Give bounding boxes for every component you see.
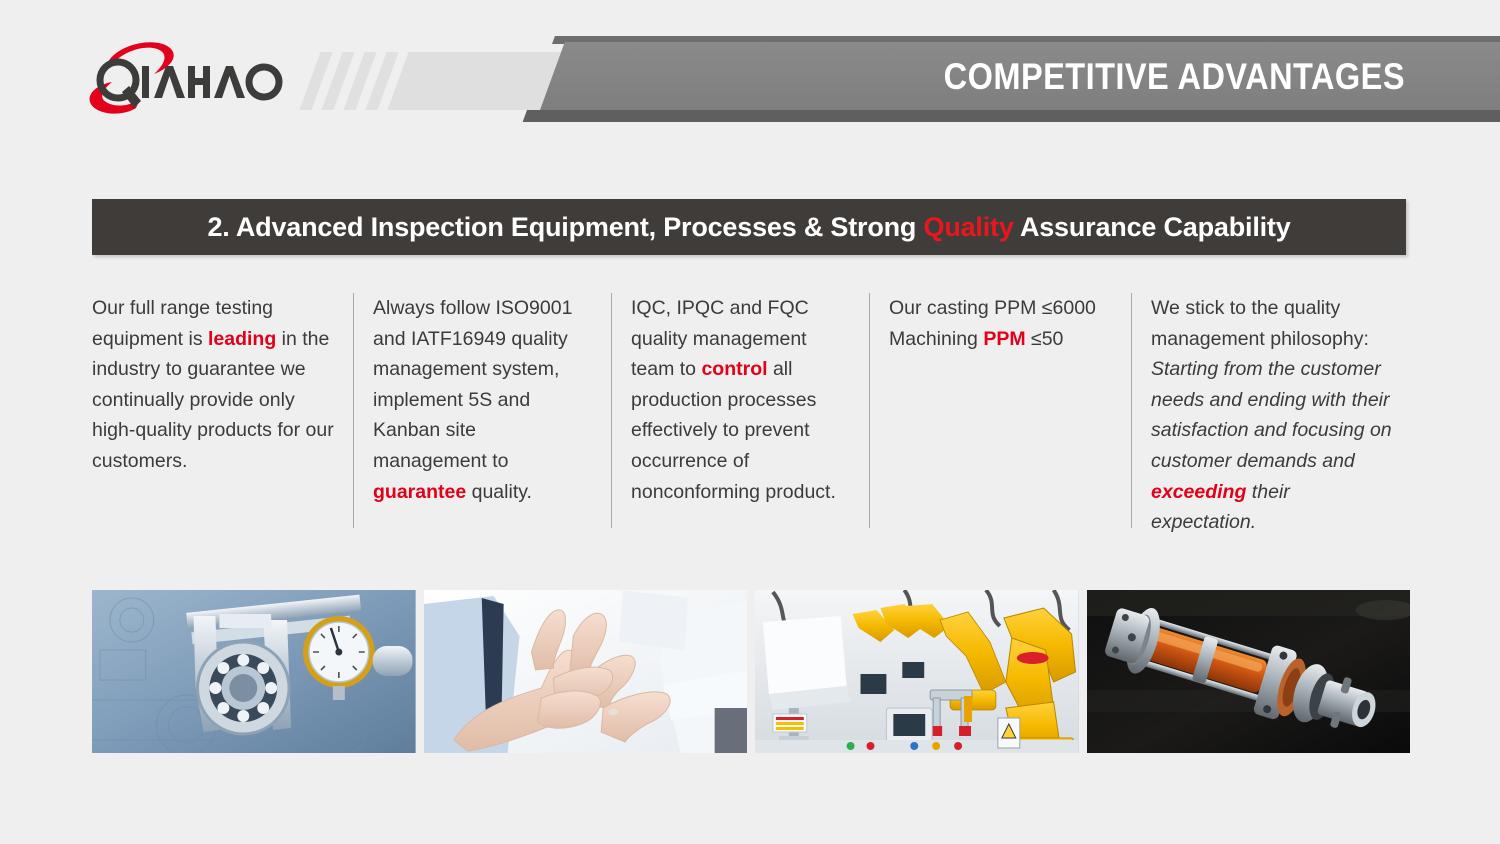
section-title-prefix: 2. Advanced Inspection Equipment, Proces…	[207, 212, 923, 242]
banner-bevel-bottom	[523, 110, 1500, 122]
q-orbit-logo-icon	[88, 38, 288, 120]
qianhao-logo	[88, 38, 288, 120]
banner-title: COMPETITIVE ADVANTAGES	[697, 49, 1405, 104]
feature-column: IQC, IPQC and FQC quality management tea…	[611, 293, 869, 528]
section-title-suffix: Assurance Capability	[1014, 212, 1291, 242]
photo-caliper-bearing	[92, 590, 416, 753]
photo-team-thumbs-up	[424, 590, 748, 753]
photo-robot-arms	[755, 590, 1079, 753]
slide-canvas: COMPETITIVE ADVANTAGES 2. Advanced Inspe…	[0, 0, 1500, 844]
feature-column: Always follow ISO9001 and IATF16949 qual…	[353, 293, 611, 528]
section-title-bar: 2. Advanced Inspection Equipment, Proces…	[92, 199, 1406, 255]
column-body: IQC, IPQC and FQC quality management tea…	[631, 293, 851, 507]
feature-columns: Our full range testing equipment is lead…	[92, 293, 1412, 528]
feature-column: We stick to the quality management philo…	[1131, 293, 1412, 528]
section-title-highlight: Quality	[924, 212, 1014, 242]
section-title-text: 2. Advanced Inspection Equipment, Proces…	[207, 212, 1290, 243]
feature-column: Our casting PPM ≤6000Machining PPM ≤50	[869, 293, 1131, 528]
column-body: We stick to the quality management philo…	[1151, 293, 1394, 538]
column-body: Our casting PPM ≤6000Machining PPM ≤50	[889, 293, 1113, 354]
photo-strip	[92, 590, 1410, 753]
photo-drive-shaft	[1087, 590, 1411, 753]
slide-header: COMPETITIVE ADVANTAGES	[0, 0, 1500, 160]
column-body: Always follow ISO9001 and IATF16949 qual…	[373, 293, 593, 507]
feature-column: Our full range testing equipment is lead…	[92, 293, 353, 528]
column-body: Our full range testing equipment is lead…	[92, 293, 335, 477]
